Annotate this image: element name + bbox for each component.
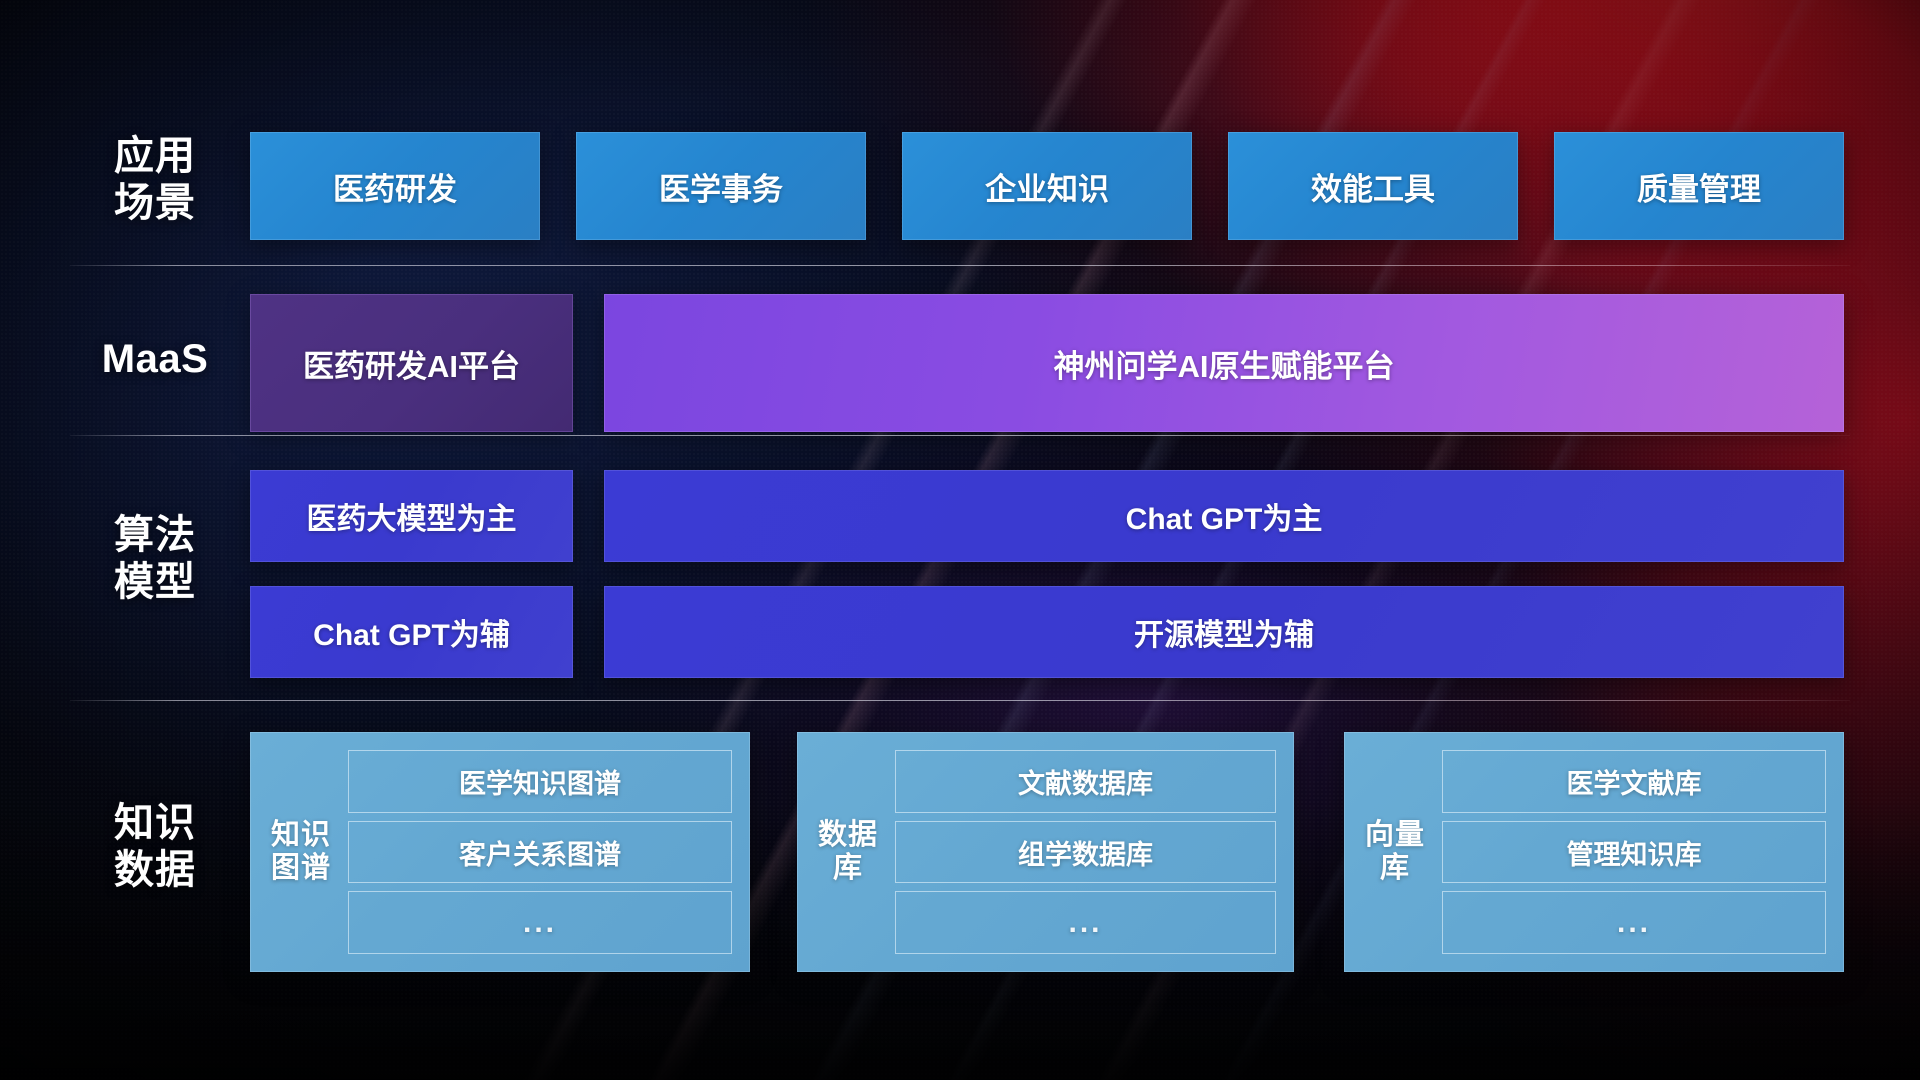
knowledge-group-knowledge-graph[interactable]: 知识图谱 医学知识图谱 客户关系图谱 ... (250, 732, 750, 972)
architecture-diagram: 应用 场景 医药研发 医学事务 企业知识 效能工具 质量管理 MaaS 医药研发… (0, 0, 1920, 1080)
knowledge-group-title-database: 数据库 (811, 819, 885, 885)
row-label-knowledge-line1: 知识 (70, 800, 240, 847)
algo-card-chatgpt-primary[interactable]: Chat GPT为主 (604, 470, 1844, 562)
knowledge-item-medical-literature-store[interactable]: 医学文献库 (1442, 750, 1826, 813)
app-card-enterprise-knowledge[interactable]: 企业知识 (902, 132, 1192, 240)
app-card-quality-management[interactable]: 质量管理 (1554, 132, 1844, 240)
knowledge-item-list: 文献数据库 组学数据库 ... (895, 746, 1276, 958)
knowledge-group-title-vector-store: 向量库 (1358, 819, 1432, 885)
row-label-application-line1: 应用 (70, 133, 240, 180)
maas-card-shenzhou-wenxue-platform[interactable]: 神州问学AI原生赋能平台 (604, 294, 1844, 432)
row-label-knowledge: 知识 数据 (70, 800, 240, 894)
knowledge-item-more-vector-store[interactable]: ... (1442, 891, 1826, 954)
maas-card-medicine-ai-platform[interactable]: 医药研发AI平台 (250, 294, 573, 432)
knowledge-item-customer-relation-graph[interactable]: 客户关系图谱 (348, 821, 732, 884)
knowledge-item-management-knowledge-store[interactable]: 管理知识库 (1442, 821, 1826, 884)
knowledge-item-list: 医学知识图谱 客户关系图谱 ... (348, 746, 732, 958)
app-card-medical-affairs[interactable]: 医学事务 (576, 132, 866, 240)
app-card-medicine-rnd[interactable]: 医药研发 (250, 132, 540, 240)
slide-canvas: 应用 场景 医药研发 医学事务 企业知识 效能工具 质量管理 MaaS 医药研发… (0, 0, 1920, 1080)
row-label-algorithm-line2: 模型 (70, 559, 240, 606)
knowledge-item-omics-database[interactable]: 组学数据库 (895, 821, 1276, 884)
knowledge-group-title-knowledge-graph: 知识图谱 (264, 819, 338, 885)
app-card-efficiency-tools[interactable]: 效能工具 (1228, 132, 1518, 240)
knowledge-item-list: 医学文献库 管理知识库 ... (1442, 746, 1826, 958)
algo-card-chatgpt-secondary[interactable]: Chat GPT为辅 (250, 586, 573, 678)
algo-card-opensource-secondary[interactable]: 开源模型为辅 (604, 586, 1844, 678)
knowledge-item-more-database[interactable]: ... (895, 891, 1276, 954)
row-separator-1 (70, 265, 1850, 266)
knowledge-group-database[interactable]: 数据库 文献数据库 组学数据库 ... (797, 732, 1294, 972)
row-label-algorithm: 算法 模型 (70, 512, 240, 606)
row-separator-3 (70, 700, 1850, 701)
algo-card-medicine-llm-primary[interactable]: 医药大模型为主 (250, 470, 573, 562)
row-label-application-line2: 场景 (70, 180, 240, 227)
row-label-application: 应用 场景 (70, 133, 240, 227)
knowledge-item-more-knowledge-graph[interactable]: ... (348, 891, 732, 954)
row-label-maas: MaaS (70, 336, 240, 383)
knowledge-item-medical-knowledge-graph[interactable]: 医学知识图谱 (348, 750, 732, 813)
row-label-algorithm-line1: 算法 (70, 512, 240, 559)
row-label-knowledge-line2: 数据 (70, 847, 240, 894)
knowledge-item-literature-database[interactable]: 文献数据库 (895, 750, 1276, 813)
row-separator-2 (70, 435, 1850, 436)
knowledge-group-vector-store[interactable]: 向量库 医学文献库 管理知识库 ... (1344, 732, 1844, 972)
